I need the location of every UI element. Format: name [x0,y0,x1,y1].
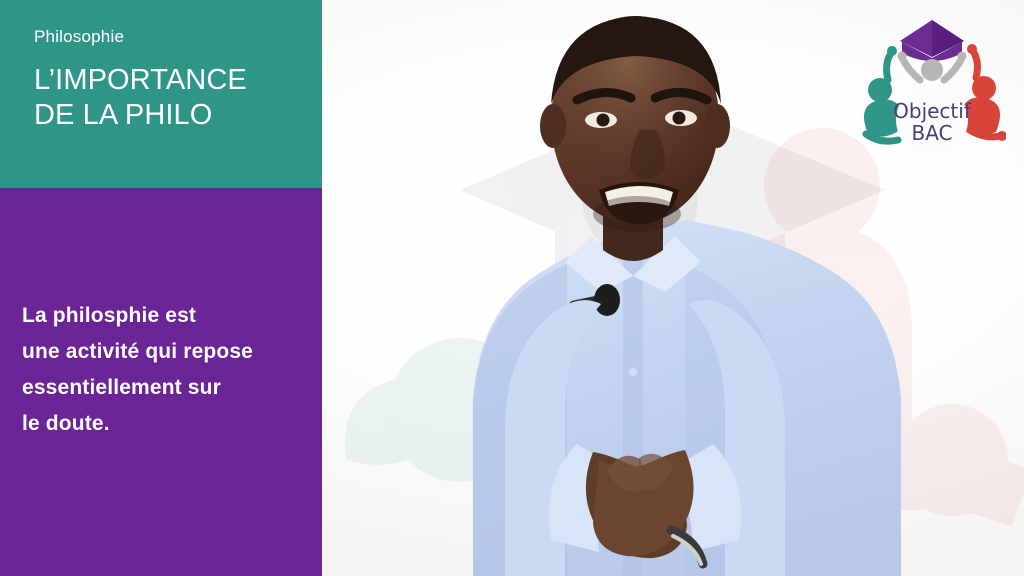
body-text: La philosphie est une activité qui repos… [22,298,300,442]
title-panel: Philosophie L’IMPORTANCE DE LA PHILO [0,0,322,188]
objectif-bac-logo: Objectif BAC [858,8,1006,160]
graduation-cap-icon [900,20,964,61]
logo-wordmark-line2: BAC [911,121,952,145]
subject-kicker: Philosophie [34,28,298,47]
logo-wordmark-line1: Objectif [893,99,972,123]
page-title: L’IMPORTANCE DE LA PHILO [34,63,298,134]
video-frame: Philosophie L’IMPORTANCE DE LA PHILO La … [0,0,1024,576]
body-panel: La philosphie est une activité qui repos… [0,188,322,576]
